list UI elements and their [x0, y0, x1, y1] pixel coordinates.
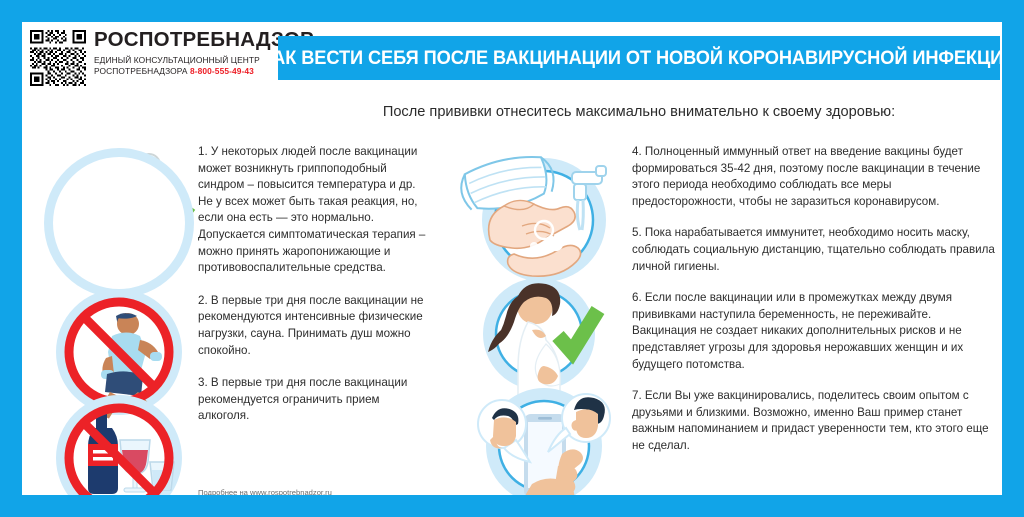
fever-thermometer-icon [44, 148, 194, 298]
tip-paragraph-6: 6. Если после вакцинации или в промежутк… [632, 290, 998, 373]
subtitle: После прививки отнеситесь максимально вн… [278, 104, 1000, 120]
brand-line-1: ЕДИНЫЙ КОНСУЛЬТАЦИОННЫЙ ЦЕНТР [94, 55, 280, 66]
qr-code-icon [30, 30, 86, 86]
tip-paragraph-4: 4. Полноценный иммунный ответ на введени… [632, 144, 998, 210]
pregnancy-illustration [466, 274, 616, 398]
right-text-column: 4. Полноценный иммунный ответ на введени… [632, 144, 998, 470]
tip-paragraph-5: 5. Пока нарабатывается иммунитет, необхо… [632, 225, 998, 275]
tip-paragraph-2: 2. В первые три дня после вакцинации не … [198, 293, 432, 359]
poster-header: РОСПОТРЕБНАДЗОР ЕДИНЫЙ КОНСУЛЬТАЦИОННЫЙ … [22, 22, 1002, 94]
no-alcohol-illustration [44, 400, 194, 495]
brand-block: РОСПОТРЕБНАДЗОР ЕДИНЫЙ КОНСУЛЬТАЦИОННЫЙ … [30, 28, 278, 94]
share-experience-icon [466, 384, 622, 495]
hotline-phone[interactable]: 8-800-555-49-43 [190, 66, 254, 76]
brand-line-2-text: РОСПОТРЕБНАДЗОРА [94, 66, 188, 76]
tip-paragraph-7: 7. Если Вы уже вакцинировались, поделите… [632, 388, 998, 454]
poster: РОСПОТРЕБНАДЗОР ЕДИНЫЙ КОНСУЛЬТАЦИОННЫЙ … [0, 0, 1024, 517]
brand-line-2: РОСПОТРЕБНАДЗОРА 8-800-555-49-43 [94, 66, 280, 77]
no-alcohol-icon [44, 400, 194, 495]
footnote-link[interactable]: Подробнее на www.rospotrebnadzor.ru [198, 488, 332, 495]
brand-title: РОСПОТРЕБНАДЗОР [94, 28, 280, 52]
brand-text: РОСПОТРЕБНАДЗОР ЕДИНЫЙ КОНСУЛЬТАЦИОННЫЙ … [94, 28, 280, 77]
title-banner: КАК ВЕСТИ СЕБЯ ПОСЛЕ ВАКЦИНАЦИИ ОТ НОВОЙ… [278, 36, 1000, 80]
pregnant-woman-icon [466, 274, 616, 398]
handwashing-illustration [452, 148, 622, 284]
mask-handwashing-icon [452, 148, 622, 284]
tip-paragraph-1: 1. У некоторых людей после вакцинации мо… [198, 144, 432, 277]
icon-ring-inner [53, 157, 185, 289]
left-text-column: 1. У некоторых людей после вакцинации мо… [198, 144, 432, 441]
share-illustration [466, 384, 622, 495]
page-title: КАК ВЕСТИ СЕБЯ ПОСЛЕ ВАКЦИНАЦИИ ОТ НОВОЙ… [261, 47, 1002, 70]
tip-paragraph-3: 3. В первые три дня после вакцинации рек… [198, 375, 432, 425]
poster-sheet: РОСПОТРЕБНАДЗОР ЕДИНЫЙ КОНСУЛЬТАЦИОННЫЙ … [22, 22, 1002, 495]
